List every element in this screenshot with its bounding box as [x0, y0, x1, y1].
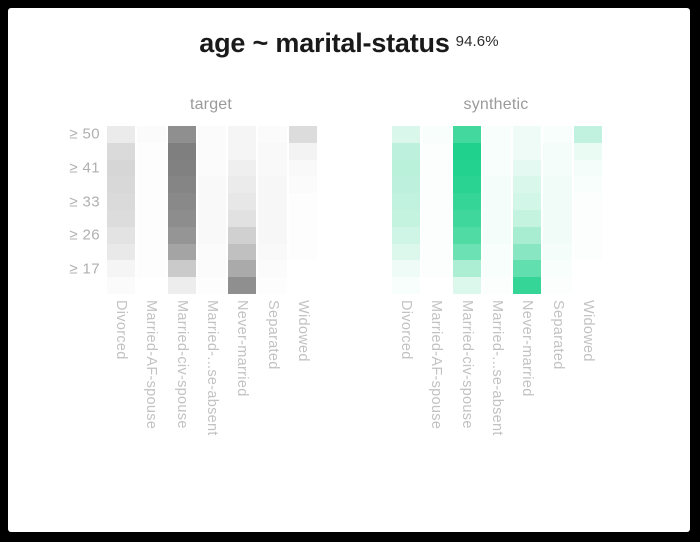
heatmap-cell — [258, 277, 286, 294]
heatmap-cell — [574, 210, 602, 227]
heatmap-cell — [422, 126, 450, 143]
heatmap-cell — [392, 160, 420, 177]
x-axis-tick-slot: Never-married — [227, 300, 257, 510]
heatmap-cell — [137, 176, 165, 193]
heatmap-column — [453, 126, 481, 294]
heatmap-cell — [228, 244, 256, 261]
heatmap-cell — [574, 244, 602, 261]
heatmap-cell — [289, 193, 317, 210]
heatmap-cell — [422, 277, 450, 294]
heatmap-column — [543, 126, 571, 294]
heatmap-cell — [453, 126, 481, 143]
heatmap-cell — [258, 193, 286, 210]
heatmap-cell — [198, 160, 226, 177]
x-axis-tick-slot: Married-AF-spouse — [421, 300, 451, 510]
heatmap-cell — [453, 143, 481, 160]
heatmap-cell — [453, 193, 481, 210]
heatmap-cell — [543, 210, 571, 227]
x-axis-tick-label: Widowed — [580, 300, 596, 362]
x-axis-tick-slot: Married-...se-absent — [197, 300, 227, 510]
heatmap-cell — [107, 160, 135, 177]
y-axis-tick: ≥ 17 — [69, 260, 100, 277]
heatmap-cell — [543, 126, 571, 143]
chart-title-text: age ~ marital-status — [199, 28, 449, 58]
heatmap-cell — [392, 260, 420, 277]
x-axis-tick-slot: Widowed — [573, 300, 603, 510]
heatmap-cell — [137, 244, 165, 261]
x-axis-tick-slot: Divorced — [391, 300, 421, 510]
heatmap-cell — [543, 244, 571, 261]
heatmap-cell — [198, 210, 226, 227]
heatmap-cell — [168, 143, 196, 160]
heatmap-cell — [483, 227, 511, 244]
heatmap-cell — [289, 227, 317, 244]
x-axis-tick-slot: Never-married — [512, 300, 542, 510]
heatmap-cell — [289, 277, 317, 294]
heatmap-cell — [543, 176, 571, 193]
heatmap-cell — [453, 176, 481, 193]
heatmap-cell — [258, 227, 286, 244]
heatmap-cell — [422, 244, 450, 261]
heatmap-cell — [453, 244, 481, 261]
heatmap-cell — [198, 227, 226, 244]
heatmap-cell — [228, 193, 256, 210]
heatmap-cell — [168, 244, 196, 261]
heatmap-cell — [422, 260, 450, 277]
heatmap-cell — [392, 193, 420, 210]
x-axis-tick-slot: Separated — [257, 300, 287, 510]
heatmap-cell — [453, 277, 481, 294]
heatmap-cell — [228, 126, 256, 143]
heatmap-cell — [137, 193, 165, 210]
heatmap-cell — [483, 277, 511, 294]
heatmap-cell — [453, 160, 481, 177]
heatmap-cell — [574, 143, 602, 160]
heatmap-cell — [392, 210, 420, 227]
heatmap-cell — [483, 176, 511, 193]
heatmap-column — [228, 126, 256, 294]
heatmap-column — [168, 126, 196, 294]
heatmap-cell — [513, 227, 541, 244]
heatmap-cell — [483, 143, 511, 160]
heatmap-cell — [228, 143, 256, 160]
heatmap-cell — [107, 260, 135, 277]
x-axis-tick-label: Separated — [265, 300, 281, 370]
heatmap-cell — [513, 176, 541, 193]
heatmap-cell — [392, 244, 420, 261]
heatmap-cell — [483, 260, 511, 277]
heatmap-cell — [483, 244, 511, 261]
heatmap-cell — [258, 260, 286, 277]
heatmap-cell — [422, 143, 450, 160]
heatmap-column — [422, 126, 450, 294]
heatmap-cell — [513, 260, 541, 277]
x-axis-tick-label: Separated — [550, 300, 566, 370]
x-axis-tick-slot: Married-civ-spouse — [167, 300, 197, 510]
heatmap-cell — [289, 143, 317, 160]
heatmap-target — [106, 126, 318, 294]
heatmap-cell — [574, 176, 602, 193]
heatmap-cell — [422, 227, 450, 244]
heatmap-cell — [513, 193, 541, 210]
heatmap-cell — [483, 210, 511, 227]
heatmap-cell — [198, 143, 226, 160]
heatmap-cell — [107, 277, 135, 294]
heatmap-cell — [453, 210, 481, 227]
panel-title-synthetic: synthetic — [391, 96, 601, 114]
heatmap-cell — [137, 210, 165, 227]
figure-frame: age ~ marital-status94.6% target synthet… — [0, 0, 700, 542]
heatmap-cell — [198, 193, 226, 210]
heatmap-cell — [543, 193, 571, 210]
panel-title-target: target — [106, 96, 316, 114]
y-axis-tick: ≥ 33 — [69, 193, 100, 210]
heatmap-cell — [168, 176, 196, 193]
heatmap-cell — [392, 227, 420, 244]
heatmap-cell — [198, 176, 226, 193]
heatmap-cell — [137, 227, 165, 244]
x-axis-tick-label: Married-civ-spouse — [174, 300, 190, 429]
heatmap-cell — [392, 176, 420, 193]
heatmap-cell — [289, 244, 317, 261]
x-axis-tick-label: Married-AF-spouse — [428, 300, 444, 429]
x-axis-tick-slot: Separated — [542, 300, 572, 510]
heatmap-cell — [392, 126, 420, 143]
heatmap-cell — [137, 160, 165, 177]
heatmap-column — [483, 126, 511, 294]
y-axis-tick: ≥ 26 — [69, 227, 100, 244]
x-axis-tick-label: Divorced — [398, 300, 414, 360]
heatmap-cell — [107, 126, 135, 143]
heatmap-cell — [137, 126, 165, 143]
x-axis-tick-slot: Widowed — [288, 300, 318, 510]
heatmap-cell — [228, 176, 256, 193]
heatmap-cell — [228, 160, 256, 177]
x-axis-target: DivorcedMarried-AF-spouseMarried-civ-spo… — [106, 300, 318, 510]
heatmap-cell — [258, 160, 286, 177]
heatmap-cell — [483, 126, 511, 143]
heatmap-column — [258, 126, 286, 294]
heatmap-cell — [289, 160, 317, 177]
heatmap-cell — [289, 126, 317, 143]
x-axis-synthetic: DivorcedMarried-AF-spouseMarried-civ-spo… — [391, 300, 603, 510]
heatmap-cell — [513, 277, 541, 294]
heatmap-cell — [453, 227, 481, 244]
heatmap-cell — [574, 126, 602, 143]
heatmap-cell — [258, 176, 286, 193]
x-axis-tick-label: Married-AF-spouse — [143, 300, 159, 429]
heatmap-cell — [137, 277, 165, 294]
heatmap-cell — [168, 160, 196, 177]
heatmap-column — [289, 126, 317, 294]
heatmap-cell — [137, 143, 165, 160]
y-axis: ≥ 50≥ 41≥ 33≥ 26≥ 17 — [42, 126, 100, 294]
x-axis-tick-slot: Married-...se-absent — [482, 300, 512, 510]
heatmap-cell — [513, 210, 541, 227]
chart-score-badge: 94.6% — [456, 33, 499, 50]
heatmap-cell — [258, 126, 286, 143]
heatmap-column — [198, 126, 226, 294]
y-axis-tick: ≥ 50 — [69, 126, 100, 143]
heatmap-cell — [392, 143, 420, 160]
x-axis-tick-label: Never-married — [519, 300, 535, 397]
heatmap-cell — [198, 260, 226, 277]
heatmap-cell — [543, 227, 571, 244]
heatmap-cell — [289, 260, 317, 277]
heatmap-cell — [513, 160, 541, 177]
x-axis-tick-slot: Married-AF-spouse — [136, 300, 166, 510]
heatmap-cell — [198, 277, 226, 294]
heatmap-cell — [168, 210, 196, 227]
heatmap-cell — [392, 277, 420, 294]
heatmap-cell — [258, 210, 286, 227]
x-axis-tick-label: Married-civ-spouse — [459, 300, 475, 429]
heatmap-column — [107, 126, 135, 294]
heatmap-cell — [228, 260, 256, 277]
x-axis-tick-slot: Married-civ-spouse — [452, 300, 482, 510]
heatmap-cell — [107, 176, 135, 193]
heatmap-cell — [289, 176, 317, 193]
x-axis-tick-label: Divorced — [113, 300, 129, 360]
heatmap-cell — [483, 193, 511, 210]
y-axis-tick: ≥ 41 — [69, 160, 100, 177]
heatmap-cell — [513, 244, 541, 261]
heatmap-cell — [453, 260, 481, 277]
heatmap-cell — [574, 227, 602, 244]
heatmap-cell — [228, 227, 256, 244]
chart-title: age ~ marital-status94.6% — [8, 28, 690, 59]
heatmap-cell — [543, 160, 571, 177]
x-axis-tick-label: Married-...se-absent — [204, 300, 220, 436]
heatmap-cell — [198, 244, 226, 261]
heatmap-cell — [198, 126, 226, 143]
heatmap-cell — [513, 126, 541, 143]
x-axis-tick-label: Married-...se-absent — [489, 300, 505, 436]
heatmap-cell — [168, 277, 196, 294]
heatmap-cell — [107, 143, 135, 160]
heatmap-cell — [574, 193, 602, 210]
heatmap-cell — [543, 260, 571, 277]
heatmap-cell — [483, 160, 511, 177]
heatmap-cell — [107, 193, 135, 210]
heatmap-cell — [168, 260, 196, 277]
heatmap-cell — [289, 210, 317, 227]
x-axis-tick-slot: Divorced — [106, 300, 136, 510]
heatmap-cell — [137, 260, 165, 277]
heatmap-synthetic — [391, 126, 603, 294]
heatmap-cell — [574, 160, 602, 177]
heatmap-cell — [422, 193, 450, 210]
heatmap-column — [137, 126, 165, 294]
heatmap-cell — [422, 176, 450, 193]
x-axis-tick-label: Never-married — [234, 300, 250, 397]
heatmap-cell — [107, 227, 135, 244]
heatmap-cell — [574, 260, 602, 277]
heatmap-cell — [107, 244, 135, 261]
figure-canvas: age ~ marital-status94.6% target synthet… — [8, 8, 690, 532]
heatmap-cell — [422, 210, 450, 227]
heatmap-cell — [168, 227, 196, 244]
heatmap-cell — [543, 143, 571, 160]
heatmap-cell — [168, 126, 196, 143]
heatmap-cell — [258, 143, 286, 160]
heatmap-cell — [228, 210, 256, 227]
heatmap-column — [574, 126, 602, 294]
heatmap-cell — [422, 160, 450, 177]
heatmap-cell — [168, 193, 196, 210]
heatmap-cell — [107, 210, 135, 227]
heatmap-cell — [574, 277, 602, 294]
heatmap-cell — [228, 277, 256, 294]
x-axis-tick-label: Widowed — [295, 300, 311, 362]
heatmap-cell — [258, 244, 286, 261]
heatmap-column — [513, 126, 541, 294]
heatmap-cell — [513, 143, 541, 160]
heatmap-column — [392, 126, 420, 294]
heatmap-cell — [543, 277, 571, 294]
